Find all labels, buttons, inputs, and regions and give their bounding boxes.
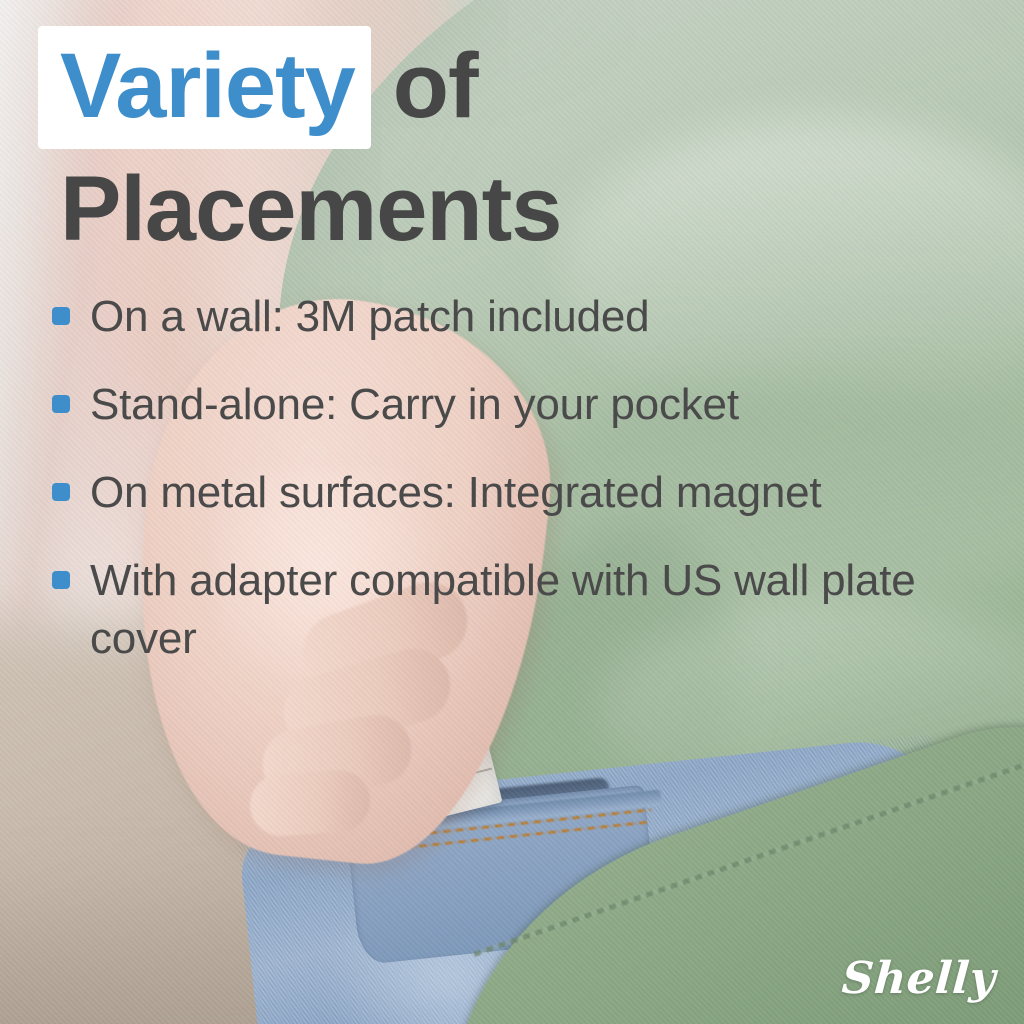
list-item: Stand-alone: Carry in your pocket: [52, 376, 1014, 434]
headline-word-of: of: [393, 48, 478, 125]
bullet-square-icon: [52, 307, 70, 325]
headline-highlight-box: Variety: [38, 26, 371, 149]
bullet-square-icon: [52, 571, 70, 589]
list-item: On metal surfaces: Integrated magnet: [52, 464, 1014, 522]
list-item-label: With adapter compatible with US wall pla…: [90, 552, 995, 668]
list-item-label: Stand-alone: Carry in your pocket: [90, 376, 739, 434]
list-item: With adapter compatible with US wall pla…: [52, 552, 1014, 668]
overlay-content: Variety of Placements On a wall: 3M patc…: [0, 0, 1024, 1024]
list-item-label: On a wall: 3M patch included: [90, 288, 649, 346]
headline-block: Variety of Placements: [38, 26, 998, 255]
list-item: On a wall: 3M patch included: [52, 288, 1014, 346]
bullet-square-icon: [52, 395, 70, 413]
headline-line-2: Placements: [60, 163, 998, 255]
shelly-logo-wordmark: Shelly: [840, 953, 997, 1004]
placement-bullet-list: On a wall: 3M patch included Stand-alone…: [52, 288, 1014, 698]
headline-word-highlight: Variety: [60, 48, 355, 125]
list-item-label: On metal surfaces: Integrated magnet: [90, 464, 821, 522]
headline-line-1: Variety of: [38, 26, 998, 149]
poster-canvas: Variety of Placements On a wall: 3M patc…: [0, 0, 1024, 1024]
bullet-square-icon: [52, 483, 70, 501]
